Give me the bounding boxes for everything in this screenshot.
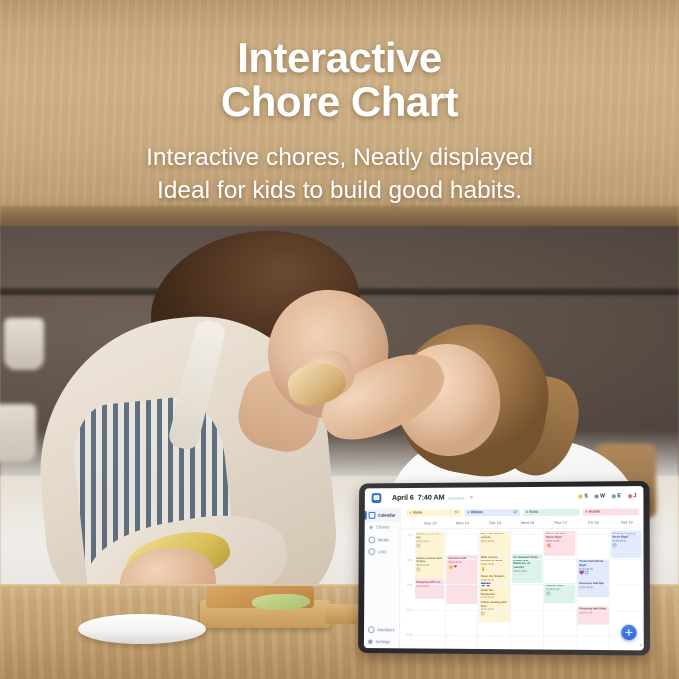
event-time: 10:30-11:00 [546, 588, 574, 591]
poster-title-line2: Chore Chart [0, 80, 679, 124]
calendar-event[interactable]: Online meeting with Theo11:00-12:00😊 [479, 600, 509, 622]
sidebar-item-label: Meals [378, 537, 389, 542]
star-icon [369, 525, 374, 530]
add-event-button[interactable] [621, 625, 636, 640]
person-color-dot [409, 512, 411, 514]
event-time: 08:00-09:00 [481, 540, 508, 543]
person-chip-echo[interactable]: Echo [523, 508, 579, 516]
time-label: 8:00 [407, 558, 412, 562]
event-title: Clean the Restaurant [481, 589, 508, 596]
app-header: April 6 7:40 AM Schedule SWEJ [365, 486, 644, 507]
gear-icon [368, 639, 373, 644]
poster-subtitle-line1: Interactive chores, Neatly displayed [146, 144, 533, 171]
chevron-down-icon[interactable] [470, 496, 474, 498]
scroll-indicator[interactable] [640, 645, 642, 647]
tablet-screen[interactable]: April 6 7:40 AM Schedule SWEJ CalendarCh… [364, 486, 644, 650]
member-avatars: SWEJ [579, 493, 637, 499]
time-label: 7:00 [407, 533, 412, 537]
time-label: 11:00 [406, 633, 413, 637]
time-label: 9:00 [407, 583, 412, 587]
sidebar-item-settings[interactable]: Settings [364, 636, 399, 649]
member-avatar-j[interactable]: J [628, 493, 637, 499]
day-column[interactable]: Pick the park and Eat08:00-09:00😊Online … [414, 529, 447, 648]
sidebar-item-calendar[interactable]: Calendar [365, 509, 400, 521]
sidebar-item-label: Lists [378, 549, 386, 554]
event-emoji: 😊 [416, 544, 443, 548]
event-emoji: 👍❤ [448, 565, 475, 569]
poster-title-line1: Interactive [237, 34, 442, 81]
day-header-row: Sun 13Mon 14Tue 15Wed 16Thur 17Fri 18Sat… [401, 517, 644, 529]
hour-gridline [414, 559, 643, 560]
sidebar-secondary-nav: MembersSettings [364, 623, 399, 648]
event-emoji: 🍕 [546, 544, 574, 548]
day-header[interactable]: Mon 14 [446, 518, 478, 528]
sidebar-item-meals[interactable]: Meals [365, 533, 400, 545]
person-color-dot [585, 511, 587, 513]
event-time: 08:00-09:00 [416, 540, 443, 543]
sidebar-item-label: Settings [375, 639, 390, 644]
event-time: 11:00-11:30 [579, 611, 607, 614]
calendar-app-icon [372, 493, 382, 503]
member-initial: W [600, 493, 605, 499]
calendar-event[interactable]: Shopping with Kelly11:00-11:30 [578, 606, 609, 625]
person-chip-name: Austin [589, 510, 600, 514]
list-icon [368, 548, 375, 555]
event-time: 09:00-10:30 [448, 561, 475, 564]
header-time: 7:40 AM [418, 493, 445, 502]
person-color-dot [526, 511, 528, 513]
member-avatar-s[interactable]: S [579, 493, 588, 499]
event-emoji: 😊 [481, 612, 508, 616]
calendar-event[interactable]: Morning Jogging Movie Night08:00-09:00😊 [611, 531, 642, 558]
event-emoji: 😊 [416, 568, 443, 572]
person-chip-stella[interactable]: Stella5/7 [407, 509, 462, 517]
calendar-event[interactable]: Throw back Movie Night09:00-10:00💜😊 [578, 559, 609, 582]
hanging-mug [4, 318, 44, 370]
calendar-event[interactable]: Walk science session at home09:00-10:00💡 [479, 554, 509, 575]
meals-icon [368, 536, 375, 543]
event-title: Throw back Movie Night [579, 560, 607, 567]
members-icon [368, 626, 375, 633]
member-avatar-e[interactable]: E [612, 493, 621, 499]
calendar-event[interactable]: Shopping with Leo10:30-11:00 [415, 579, 445, 599]
event-time: 08:00-09:00 [546, 540, 574, 543]
app-sidebar: CalendarChoresMealsLists MembersSettings [364, 507, 401, 649]
event-time: 08:00-09:00 [612, 540, 640, 543]
app-body: CalendarChoresMealsLists MembersSettings… [364, 505, 644, 650]
day-header[interactable]: Wed 16 [511, 518, 544, 528]
day-column[interactable]: Go Seaweed Clean Drawer and Windows, do … [511, 529, 544, 650]
person-chip-count: 5/7 [455, 511, 459, 515]
sidebar-item-lists[interactable]: Lists [364, 546, 399, 558]
sidebar-item-label: Members [377, 627, 394, 632]
header-date: April 6 [392, 493, 414, 502]
day-column[interactable]: Play with children outside08:00-09:00Wal… [478, 529, 511, 649]
member-color-dot [628, 494, 632, 498]
calendar-grid[interactable]: 7:008:009:0010:0011:00 Pick the park and… [400, 529, 644, 651]
sidebar-item-label: Calendar [378, 512, 395, 517]
member-color-dot [579, 494, 583, 498]
poster-title: Interactive Chore Chart [0, 36, 679, 123]
person-color-dot [467, 511, 469, 513]
event-time: 09:00-10:00 [579, 568, 607, 571]
member-initial: J [633, 493, 636, 499]
sidebar-spacer [364, 558, 399, 623]
member-avatar-w[interactable]: W [594, 493, 605, 499]
event-time: 09:00-10:00 [481, 563, 508, 566]
tablet-device: April 6 7:40 AM Schedule SWEJ CalendarCh… [358, 481, 650, 656]
event-title: Go Seaweed Clean Drawer and Windows, do … [513, 556, 540, 569]
lettuce [252, 594, 310, 610]
family-calendar-app: April 6 7:40 AM Schedule SWEJ CalendarCh… [364, 486, 644, 650]
person-chip-count: 4/7 [513, 510, 517, 514]
poster-stage: Interactive Chore Chart Interactive chor… [0, 0, 679, 679]
header-date-group[interactable]: April 6 7:40 AM Schedule [392, 492, 474, 501]
person-chip-name: William [471, 510, 483, 514]
calendar-event[interactable]: Checked shift09:00-10:30👍❤ [447, 555, 477, 603]
calendar-event[interactable]: Shopping with Mia10:00-10:30 [578, 581, 609, 597]
poster-subtitle-line2: Ideal for kids to build good habits. [0, 174, 679, 207]
event-emoji: 💜😊 [579, 571, 607, 575]
event-emoji: 😊 [546, 592, 574, 596]
event-time: 10:00-10:30 [481, 579, 508, 582]
day-column[interactable]: Throw back Movie Night09:00-10:00💜😊Shopp… [577, 529, 610, 650]
header-view-label: Schedule [448, 496, 464, 500]
member-initial: E [617, 493, 621, 499]
event-time: 09:00-10:00 [513, 570, 540, 573]
calendar-panel: Stella5/7William4/7EchoAustin Sun 13Mon … [400, 505, 644, 650]
member-color-dot [612, 494, 616, 498]
day-header[interactable]: Sat 19 [610, 517, 643, 527]
day-header[interactable]: Tue 15 [479, 518, 512, 528]
time-axis: 7:008:009:0010:0011:00 [400, 529, 414, 648]
day-header[interactable]: Fri 18 [577, 517, 610, 527]
poster-subtitle: Interactive chores, Neatly displayed Ide… [0, 141, 679, 207]
person-chip-william[interactable]: William4/7 [464, 509, 520, 517]
day-header[interactable]: Sun 13 [414, 518, 446, 528]
sidebar-item-label: Chores [376, 525, 389, 530]
person-chip-name: Echo [530, 510, 539, 514]
sidebar-item-members[interactable]: Members [364, 623, 399, 636]
sidebar-primary-nav: CalendarChoresMealsLists [364, 509, 399, 558]
white-plate [78, 614, 206, 644]
event-emoji: 😊 [612, 544, 640, 548]
event-time: 09:00-10:00 [416, 564, 443, 567]
member-color-dot [594, 494, 598, 498]
day-column[interactable]: Pizza with kids Movie Night08:00-09:00🍕P… [544, 529, 577, 650]
person-chip-name: Stella [413, 511, 422, 515]
calendar-event[interactable]: Partner class10:30-11:00😊 [545, 583, 576, 603]
calendar-event[interactable]: Pick the park and Eat08:00-09:00😊 [415, 532, 445, 557]
person-chip-austin[interactable]: Austin [582, 508, 639, 516]
calendar-icon [369, 512, 376, 519]
day-column[interactable]: Checked shift09:00-10:30👍❤ [446, 529, 479, 649]
member-initial: S [584, 493, 588, 499]
day-header[interactable]: Thur 17 [544, 518, 577, 528]
sidebar-item-chores[interactable]: Chores [365, 521, 400, 533]
day-columns[interactable]: Pick the park and Eat08:00-09:00😊Online … [414, 529, 644, 651]
event-emoji: 💡 [481, 567, 508, 571]
time-label: 10:00 [405, 608, 412, 612]
hanging-mug [0, 404, 36, 462]
event-time: 10:00-10:30 [579, 586, 607, 589]
event-title: Online meeting with Theo [481, 601, 508, 608]
